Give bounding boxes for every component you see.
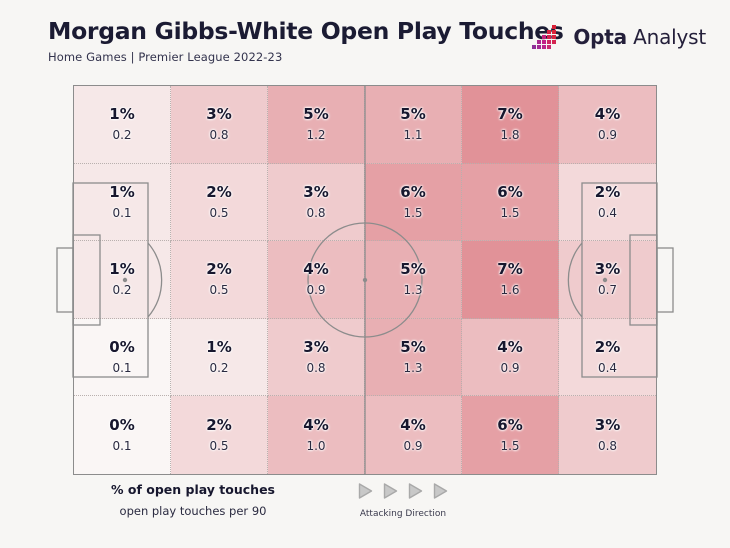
- cell-per90: 0.8: [306, 362, 325, 374]
- cell-per90: 0.5: [209, 284, 228, 296]
- cell-percentage: 5%: [400, 340, 425, 355]
- cell-per90: 1.3: [403, 362, 422, 374]
- cell-per90: 1.0: [306, 440, 325, 452]
- heatmap-cell: 3%0.8: [171, 86, 268, 164]
- cell-percentage: 1%: [109, 262, 134, 277]
- cell-per90: 1.5: [500, 207, 519, 219]
- footer-legend: % of open play touches open play touches…: [73, 482, 657, 532]
- cell-per90: 1.2: [306, 129, 325, 141]
- cell-percentage: 4%: [400, 418, 425, 433]
- cell-per90: 0.2: [209, 362, 228, 374]
- heatmap-cell: 3%0.8: [559, 396, 656, 474]
- pitch-heatmap: 1%0.23%0.85%1.25%1.17%1.84%0.91%0.12%0.5…: [73, 85, 657, 475]
- heatmap-cell: 2%0.4: [559, 164, 656, 242]
- cell-percentage: 2%: [595, 185, 620, 200]
- cell-per90: 1.1: [403, 129, 422, 141]
- heatmap-cell: 1%0.2: [74, 86, 171, 164]
- heatmap-cell: 2%0.5: [171, 241, 268, 319]
- logo-wordmark: Opta Analyst: [573, 25, 706, 49]
- cell-percentage: 4%: [303, 418, 328, 433]
- cell-percentage: 3%: [303, 185, 328, 200]
- cell-percentage: 2%: [595, 340, 620, 355]
- cell-per90: 1.5: [403, 207, 422, 219]
- cell-percentage: 4%: [595, 107, 620, 122]
- cell-percentage: 5%: [400, 262, 425, 277]
- cell-percentage: 0%: [109, 340, 134, 355]
- heatmap-cell: 0%0.1: [74, 319, 171, 397]
- heatmap-cell: 6%1.5: [365, 164, 462, 242]
- cell-per90: 0.7: [598, 284, 617, 296]
- cell-percentage: 1%: [206, 340, 231, 355]
- cell-per90: 1.5: [500, 440, 519, 452]
- logo-brand-regular: Analyst: [633, 25, 706, 49]
- heatmap-cell: 5%1.3: [365, 319, 462, 397]
- heatmap-cell: 3%0.8: [268, 319, 365, 397]
- cell-per90: 0.9: [598, 129, 617, 141]
- heatmap-cell: 4%0.9: [365, 396, 462, 474]
- heatmap-cell: 7%1.8: [462, 86, 559, 164]
- heatmap-cell: 2%0.5: [171, 396, 268, 474]
- cell-per90: 0.2: [112, 129, 131, 141]
- right-goal: [657, 248, 673, 312]
- heatmap-cell: 1%0.2: [74, 241, 171, 319]
- legend-primary-label: % of open play touches: [111, 482, 275, 497]
- heatmap-grid: 1%0.23%0.85%1.25%1.17%1.84%0.91%0.12%0.5…: [74, 86, 656, 474]
- heatmap-cell: 2%0.4: [559, 319, 656, 397]
- cell-percentage: 5%: [400, 107, 425, 122]
- attacking-direction-block: Attacking Direction: [313, 482, 493, 519]
- heatmap-cell: 4%0.9: [462, 319, 559, 397]
- cell-percentage: 4%: [303, 262, 328, 277]
- cell-percentage: 2%: [206, 185, 231, 200]
- heatmap-cell: 2%0.5: [171, 164, 268, 242]
- cell-per90: 0.9: [500, 362, 519, 374]
- left-goal: [57, 248, 73, 312]
- cell-per90: 0.8: [209, 129, 228, 141]
- opta-mosaic-icon: [532, 24, 566, 50]
- cell-percentage: 6%: [497, 418, 522, 433]
- heatmap-page: Morgan Gibbs-White Open Play Touches Hom…: [0, 0, 730, 548]
- cell-percentage: 1%: [109, 107, 134, 122]
- play-triangle-icon: [432, 482, 449, 500]
- cell-percentage: 2%: [206, 262, 231, 277]
- cell-per90: 0.2: [112, 284, 131, 296]
- legend-text-block: % of open play touches open play touches…: [111, 482, 275, 518]
- cell-percentage: 6%: [497, 185, 522, 200]
- cell-percentage: 1%: [109, 185, 134, 200]
- cell-percentage: 7%: [497, 262, 522, 277]
- heatmap-cell: 5%1.2: [268, 86, 365, 164]
- cell-per90: 0.8: [306, 207, 325, 219]
- attacking-direction-label: Attacking Direction: [313, 509, 493, 519]
- cell-per90: 0.9: [403, 440, 422, 452]
- heatmap-cell: 6%1.5: [462, 164, 559, 242]
- cell-percentage: 4%: [497, 340, 522, 355]
- heatmap-cell: 1%0.2: [171, 319, 268, 397]
- heatmap-cell: 4%0.9: [559, 86, 656, 164]
- pitch-outline: 1%0.23%0.85%1.25%1.17%1.84%0.91%0.12%0.5…: [73, 85, 657, 475]
- cell-percentage: 5%: [303, 107, 328, 122]
- heatmap-cell: 1%0.1: [74, 164, 171, 242]
- legend-secondary-label: open play touches per 90: [111, 504, 275, 518]
- opta-analyst-logo: Opta Analyst: [532, 24, 706, 50]
- heatmap-cell: 3%0.7: [559, 241, 656, 319]
- heatmap-cell: 5%1.1: [365, 86, 462, 164]
- cell-percentage: 6%: [400, 185, 425, 200]
- cell-percentage: 3%: [206, 107, 231, 122]
- cell-per90: 0.5: [209, 440, 228, 452]
- heatmap-cell: 7%1.6: [462, 241, 559, 319]
- cell-per90: 0.4: [598, 207, 617, 219]
- cell-per90: 0.5: [209, 207, 228, 219]
- cell-per90: 0.9: [306, 284, 325, 296]
- play-triangle-icon: [357, 482, 374, 500]
- cell-percentage: 3%: [595, 262, 620, 277]
- heatmap-cell: 3%0.8: [268, 164, 365, 242]
- cell-per90: 0.1: [112, 362, 131, 374]
- cell-per90: 1.3: [403, 284, 422, 296]
- direction-arrows: [313, 482, 493, 500]
- heatmap-cell: 6%1.5: [462, 396, 559, 474]
- cell-percentage: 7%: [497, 107, 522, 122]
- cell-per90: 1.8: [500, 129, 519, 141]
- play-triangle-icon: [382, 482, 399, 500]
- cell-percentage: 2%: [206, 418, 231, 433]
- cell-per90: 0.1: [112, 207, 131, 219]
- cell-percentage: 0%: [109, 418, 134, 433]
- cell-per90: 0.4: [598, 362, 617, 374]
- cell-per90: 0.1: [112, 440, 131, 452]
- cell-per90: 0.8: [598, 440, 617, 452]
- heatmap-cell: 4%1.0: [268, 396, 365, 474]
- page-subtitle: Home Games | Premier League 2022-23: [48, 50, 688, 64]
- heatmap-cell: 4%0.9: [268, 241, 365, 319]
- cell-percentage: 3%: [595, 418, 620, 433]
- cell-percentage: 3%: [303, 340, 328, 355]
- heatmap-cell: 0%0.1: [74, 396, 171, 474]
- cell-per90: 1.6: [500, 284, 519, 296]
- heatmap-cell: 5%1.3: [365, 241, 462, 319]
- play-triangle-icon: [407, 482, 424, 500]
- logo-brand-bold: Opta: [573, 25, 627, 49]
